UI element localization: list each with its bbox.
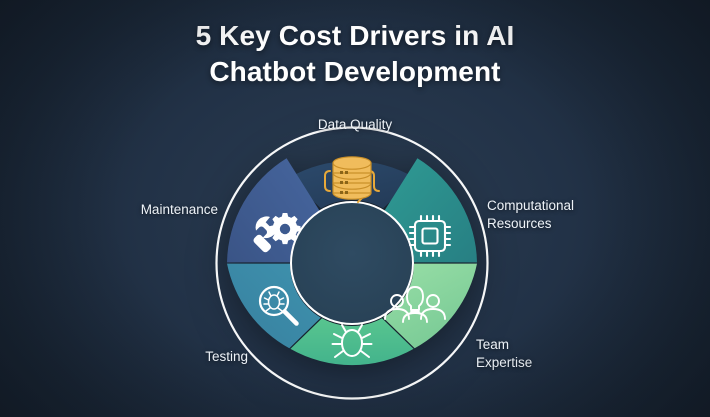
gear-shape bbox=[269, 213, 300, 244]
label-computational-resources: Computational Resources bbox=[487, 197, 574, 233]
label-maintenance: Maintenance bbox=[88, 201, 218, 219]
infographic-canvas: 5 Key Cost Drivers in AI Chatbot Develop… bbox=[0, 0, 710, 417]
label-data-quality: Data Quality bbox=[0, 116, 710, 134]
label-testing: Testing bbox=[118, 348, 248, 366]
donut-chart bbox=[212, 123, 492, 403]
page-title-line-1: 5 Key Cost Drivers in AI bbox=[0, 18, 710, 54]
donut-chart-svg bbox=[212, 123, 492, 403]
page-title: 5 Key Cost Drivers in AI Chatbot Develop… bbox=[0, 18, 710, 90]
label-team-expertise: Team Expertise bbox=[476, 336, 532, 372]
page-title-line-2: Chatbot Development bbox=[0, 54, 710, 90]
